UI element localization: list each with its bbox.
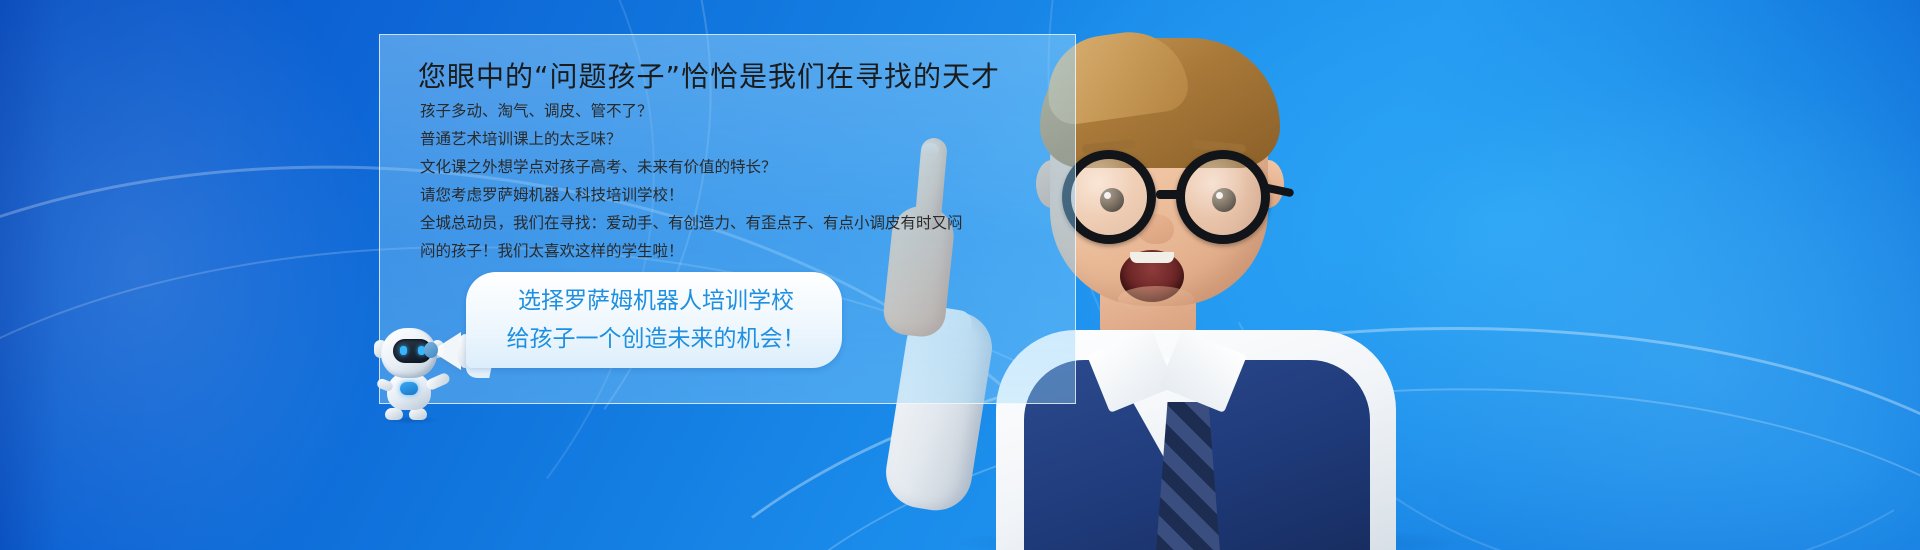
body-line: 普通艺术培训课上的太乏味？ bbox=[420, 125, 1060, 153]
promo-banner: 您眼中的“问题孩子”恰恰是我们在寻找的天才 孩子多动、淘气、调皮、管不了？ 普通… bbox=[0, 0, 1920, 550]
glasses-lens-right-icon bbox=[1176, 150, 1270, 244]
body-line: 请您考虑罗萨姆机器人科技培训学校！ bbox=[420, 181, 1060, 209]
megaphone-mouthpiece bbox=[424, 342, 438, 358]
body-line: 孩子多动、淘气、调皮、管不了？ bbox=[420, 97, 1060, 125]
page-title: 您眼中的“问题孩子”恰恰是我们在寻找的天才 bbox=[418, 55, 1000, 95]
body-line: 全城总动员，我们在寻找：爱动手、有创造力、有歪点子、有点小调皮有时又闷 bbox=[420, 209, 1060, 237]
body-line: 文化课之外想学点对孩子高考、未来有价值的特长？ bbox=[420, 153, 1060, 181]
bubble-line-1: 选择罗萨姆机器人培训学校 bbox=[486, 282, 826, 320]
robot-eye-left bbox=[400, 346, 407, 355]
boy-chin bbox=[1118, 286, 1194, 312]
speech-bubble: 选择罗萨姆机器人培训学校 给孩子一个创造未来的机会！ bbox=[466, 272, 842, 368]
glasses-lens-left-icon bbox=[1062, 150, 1156, 244]
boy-teeth bbox=[1130, 252, 1174, 263]
body-line: 闷的孩子！我们太喜欢这样的学生啦！ bbox=[420, 237, 1060, 265]
robot-chest-light bbox=[400, 382, 418, 395]
glasses-bridge bbox=[1156, 190, 1182, 199]
body-copy: 孩子多动、淘气、调皮、管不了？ 普通艺术培训课上的太乏味？ 文化课之外想学点对孩… bbox=[420, 97, 1060, 265]
background-glow-left bbox=[0, 0, 400, 550]
bubble-line-2: 给孩子一个创造未来的机会！ bbox=[486, 320, 826, 358]
robot-arm-right bbox=[425, 372, 451, 392]
